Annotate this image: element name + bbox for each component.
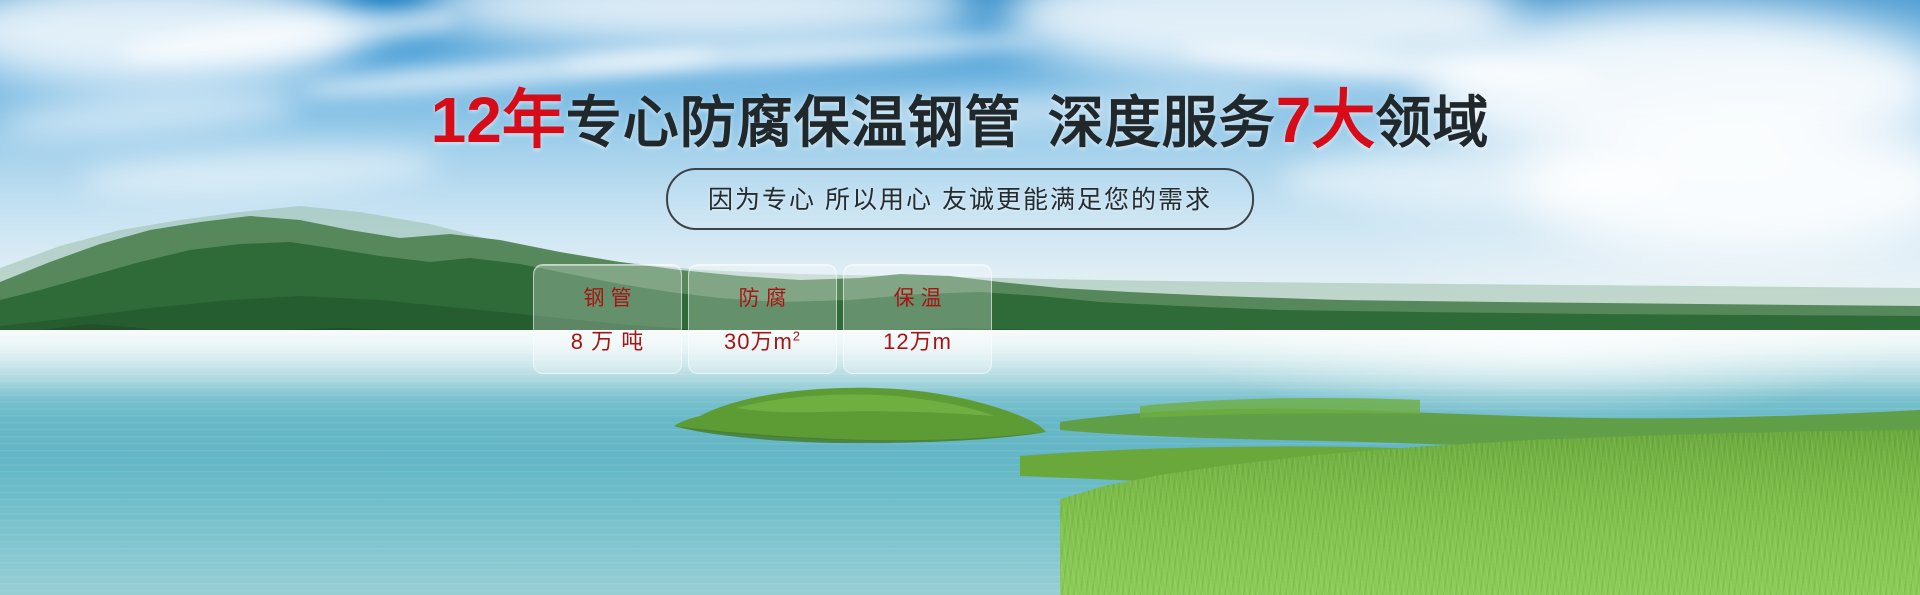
stat-card-value-text: 30万m: [724, 329, 793, 354]
stat-card-value-text: 8 万 吨: [571, 329, 644, 354]
subtitle-pill: 因为专心 所以用心 友诚更能满足您的需求: [666, 168, 1254, 230]
stat-card-label: 钢管: [578, 282, 638, 312]
headline-main-1: 专心防腐保温钢管: [566, 91, 1022, 154]
stat-card-label: 保温: [888, 282, 948, 312]
stat-cards: 钢管 8 万 吨 防腐 30万m2 保温 12万m: [533, 264, 992, 374]
headline-accent-fields: 7大: [1276, 84, 1376, 156]
headline-accent-years: 12年: [431, 84, 566, 156]
stat-card-anticorrosion[interactable]: 防腐 30万m2: [688, 264, 837, 374]
headline-main-3: 领域: [1375, 91, 1489, 154]
stat-card-value: 8 万 吨: [571, 324, 644, 356]
page-title: 12年专心防腐保温钢管深度服务7大领域: [0, 88, 1920, 152]
stat-card-value: 30万m2: [724, 324, 801, 356]
stat-card-value-text: 12万m: [883, 329, 952, 354]
stat-card-value: 12万m: [883, 324, 952, 356]
stat-card-steel-pipe[interactable]: 钢管 8 万 吨: [533, 264, 682, 374]
hero-banner: 12年专心防腐保温钢管深度服务7大领域 因为专心 所以用心 友诚更能满足您的需求…: [0, 0, 1920, 595]
stat-card-insulation[interactable]: 保温 12万m: [843, 264, 992, 374]
stat-card-label: 防腐: [733, 282, 793, 312]
headline-main-2: 深度服务: [1048, 91, 1276, 154]
banner-content: 12年专心防腐保温钢管深度服务7大领域 因为专心 所以用心 友诚更能满足您的需求…: [0, 0, 1920, 595]
stat-card-value-exponent: 2: [793, 329, 801, 344]
